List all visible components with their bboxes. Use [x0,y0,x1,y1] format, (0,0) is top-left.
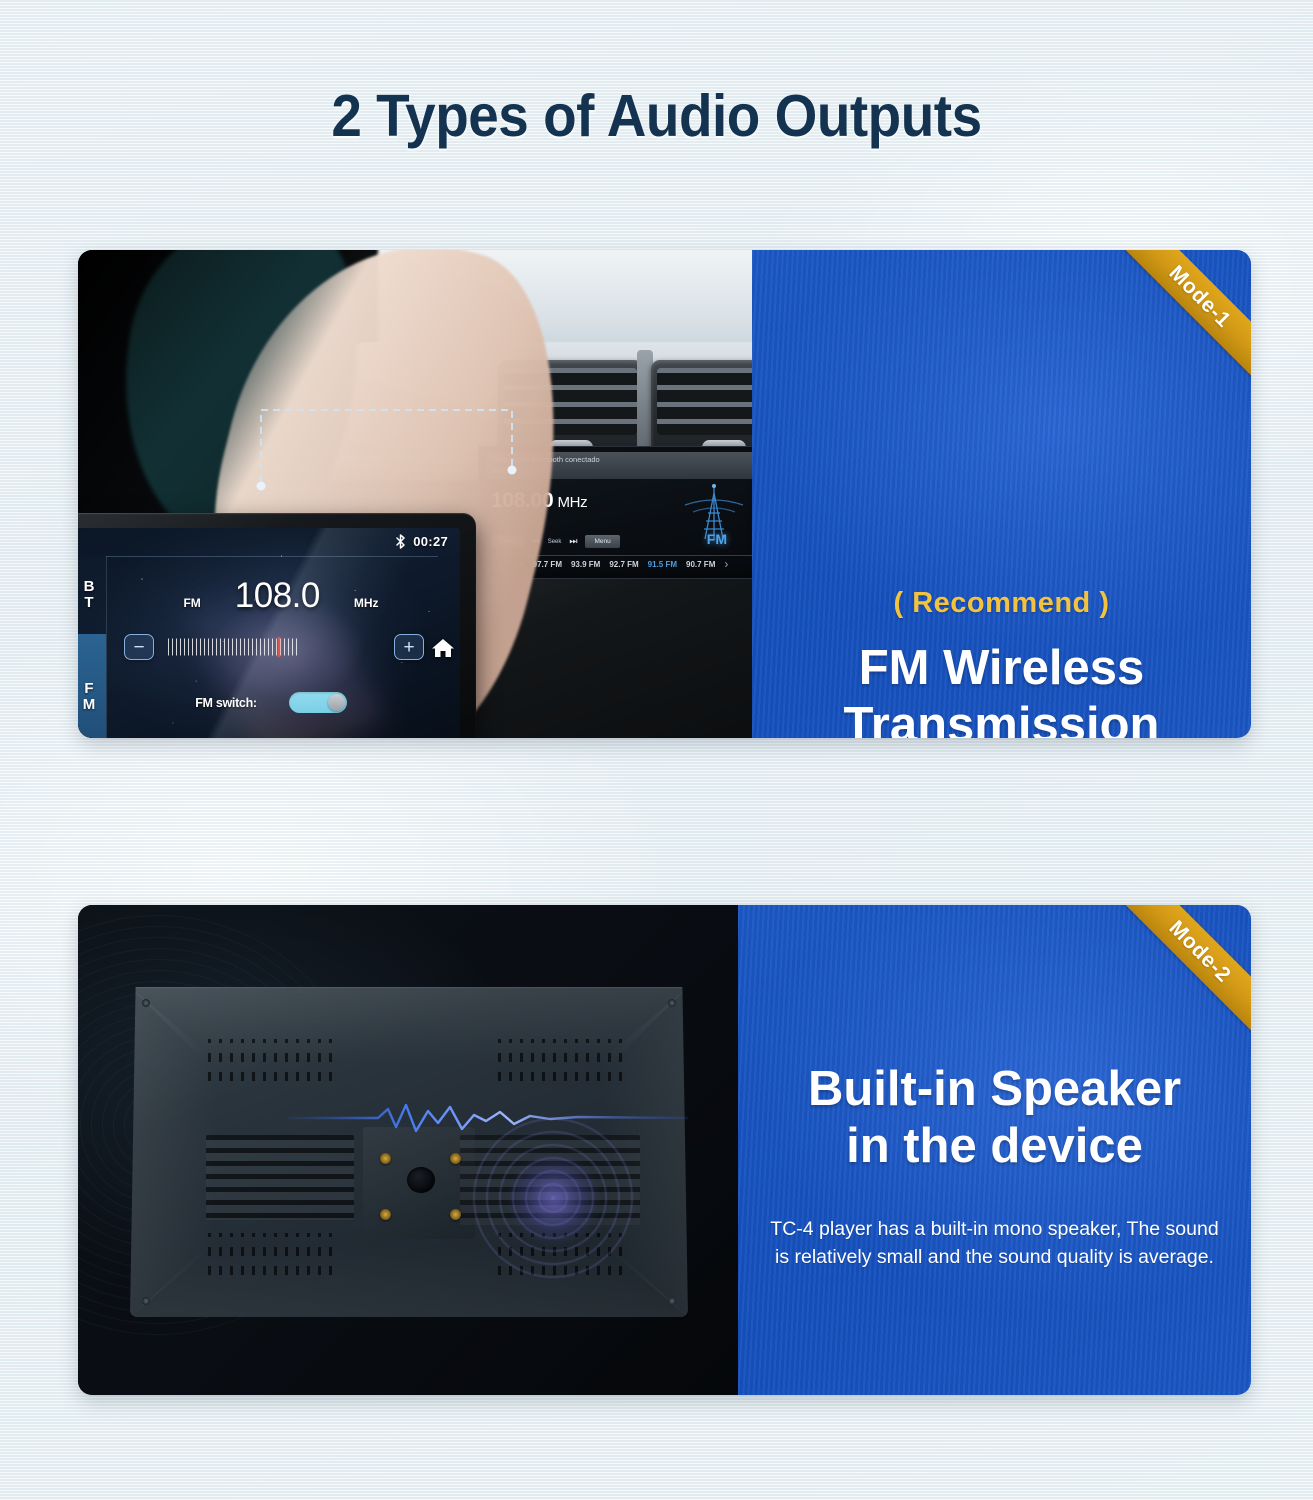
sidebar-tab-bt-line2: T [84,595,93,611]
head-unit-frequency-unit: MHz [557,494,587,511]
preset-item[interactable]: 92.7 FM [609,560,638,569]
tuning-scale[interactable] [154,634,394,660]
mode-1-headline-line1: FM Wireless [752,640,1251,697]
bluetooth-icon [395,534,406,549]
preset-item[interactable]: 93.9 FM [571,560,600,569]
device-screen[interactable]: 00:27 B T F M [78,528,460,738]
sound-wave-graphic [288,1101,688,1135]
mount-center-hole [407,1167,435,1193]
fm-logo-text: FM [707,531,727,547]
band-label: FM [183,596,200,610]
mode-1-panel: Dispositivo Bluetooth conectado iPhone 1… [78,250,1251,738]
sidebar-tab-bt-line1: B [84,579,95,595]
mode-1-ribbon: Mode-1 [1119,250,1251,382]
mode-1-photo: Dispositivo Bluetooth conectado iPhone 1… [78,250,752,738]
ribbon-label: Mode-2 [1164,916,1235,987]
mode-2-headline: Built-in Speaker in the device [738,1061,1251,1175]
mode-1-headline: FM Wireless Transmission [752,640,1251,738]
device-rear-housing [130,987,688,1317]
mode-2-ribbon: Mode-2 [1119,905,1251,1037]
tuning-needle [278,637,280,657]
preset-next-arrow[interactable]: › [724,557,728,571]
vent-grid-top-left [208,1039,338,1081]
mode-2-body: TC-4 player has a built-in mono speaker,… [738,1216,1251,1271]
vent-grid-bottom-left [208,1233,338,1275]
corner-screw [142,999,150,1007]
preset-item-active[interactable]: 91.5 FM [648,560,677,569]
device-back-photo [78,905,738,1395]
recommend-eyebrow: ( Recommend ) [752,587,1251,620]
vent-slats [657,368,752,435]
status-bar-clock: 00:27 [413,534,448,549]
tuning-scale-ticks [168,634,300,660]
fm-switch-label: FM switch: [195,696,257,710]
vent-grid-top-right [498,1039,628,1081]
sidebar-tab-fm[interactable]: F M [78,634,106,738]
mount-screw-hole [450,1209,461,1220]
mode-2-panel: Mode-2 Built-in Speaker in the device TC… [78,905,1251,1395]
car-interior-photo: Dispositivo Bluetooth conectado iPhone 1… [78,250,752,738]
sidebar-tab-bt[interactable]: B T [78,556,106,634]
frequency-value: 108.0 [235,576,320,616]
mode-2-photo [78,905,738,1395]
corner-screw [668,999,676,1007]
sidebar-tab-fm-line1: F [84,681,93,697]
next-track-icon[interactable]: ⏭ [569,536,577,547]
seek-label[interactable]: Seek [548,539,562,545]
ribbon-label: Mode-1 [1164,261,1235,332]
toggle-knob [328,694,345,711]
mode-1-copy: Mode-1 ( Recommend ) FM Wireless Transmi… [752,250,1251,738]
fm-switch-toggle[interactable] [289,692,347,713]
mode-1-headline-line2: Transmission [752,697,1251,738]
page-title: 2 Types of Audio Outputs [46,82,1267,150]
tc4-player-device: 00:27 B T F M [78,513,476,738]
mount-screw-hole [380,1153,391,1164]
frequency-decrease-button[interactable]: − [124,634,154,660]
heat-sink-slats [206,1135,354,1220]
frequency-row: FM 108.0 MHz [142,576,420,616]
frequency-increase-button[interactable]: + [394,634,424,660]
source-sidebar: B T F M [78,556,106,738]
tuner-row: − + [124,634,424,660]
fm-switch-row: FM switch: [142,692,400,713]
speaker-glow [508,1153,600,1245]
ribbon-band: Mode-2 [1119,905,1251,1037]
ribbon-band: Mode-1 [1119,250,1251,382]
sidebar-tab-fm-line2: M [83,697,96,713]
preset-item[interactable]: 90.7 FM [686,560,715,569]
menu-button[interactable]: Menu [585,535,619,548]
mode-2-copy: Mode-2 Built-in Speaker in the device TC… [738,905,1251,1395]
mount-screw-hole [380,1209,391,1220]
frequency-unit-label: MHz [354,596,379,610]
corner-screw [142,1297,150,1305]
mode-2-headline-line1: Built-in Speaker [738,1061,1251,1118]
ui-hairline-horizontal [106,556,438,557]
home-icon[interactable] [430,636,456,660]
status-bar: 00:27 [395,534,448,549]
ui-hairline-vertical [106,556,107,738]
corner-screw [668,1297,676,1305]
mount-screw-hole [450,1153,461,1164]
mode-2-headline-line2: in the device [738,1118,1251,1175]
